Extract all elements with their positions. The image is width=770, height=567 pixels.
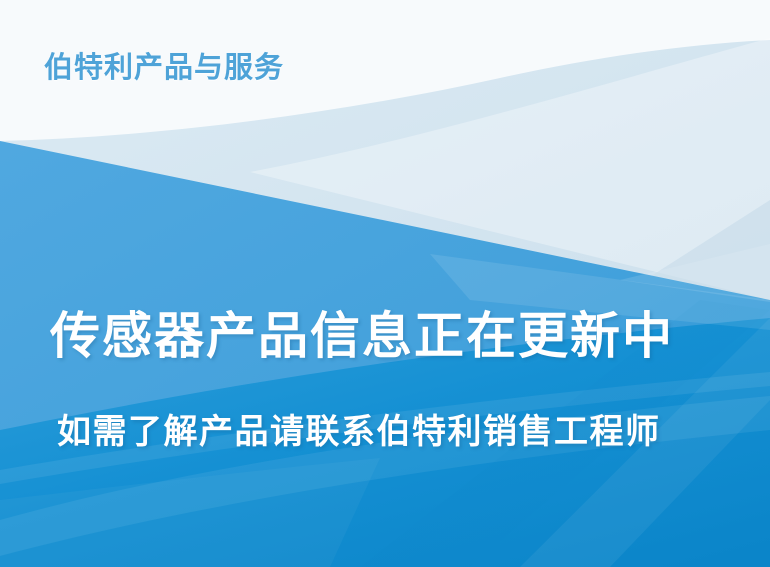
headline-secondary: 如需了解产品请联系伯特利销售工程师 — [57, 404, 661, 453]
headline-primary: 传感器产品信息正在更新中 — [50, 296, 674, 368]
product-service-banner: 伯特利产品与服务 传感器产品信息正在更新中 如需了解产品请联系伯特利销售工程师 — [0, 0, 770, 567]
page-title: 伯特利产品与服务 — [44, 44, 284, 86]
